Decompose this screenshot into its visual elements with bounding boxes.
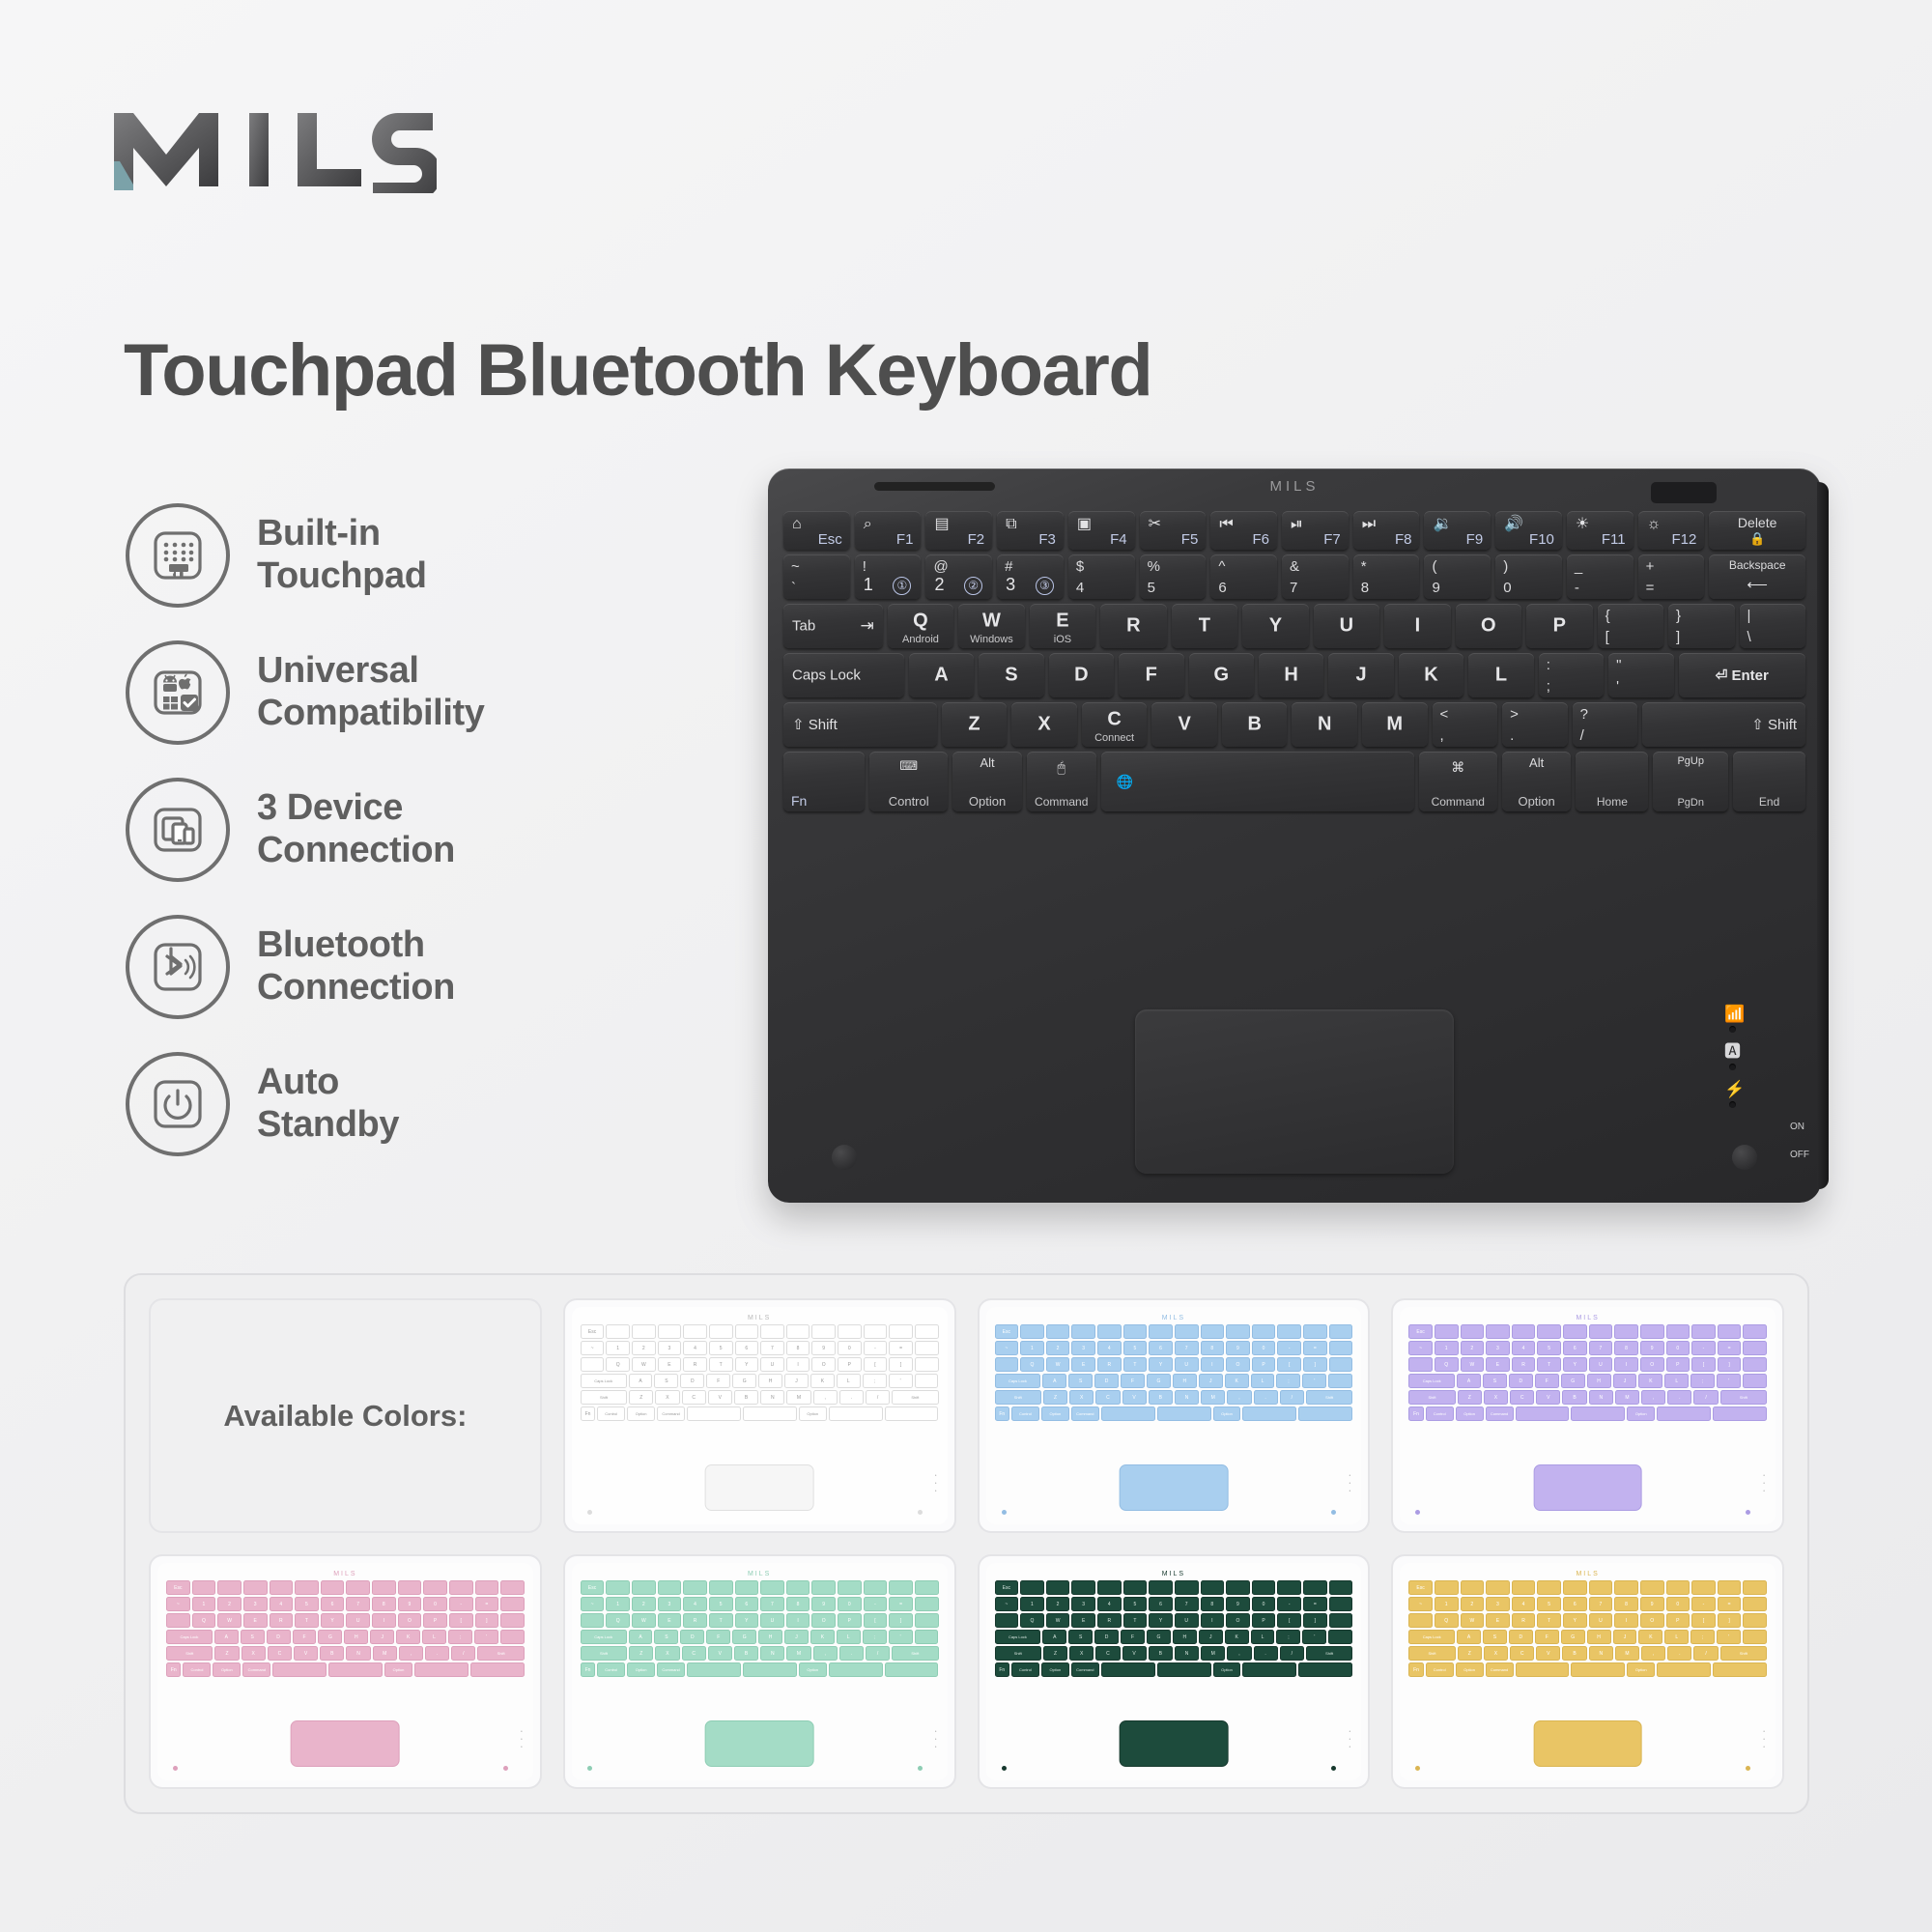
key-d[interactable]: D [1049, 653, 1114, 697]
mini-rubber-foot [503, 1766, 508, 1771]
mini-key: ; [1276, 1374, 1300, 1388]
mini-key: 4 [270, 1597, 294, 1611]
mini-key: F [1535, 1630, 1559, 1644]
key-q[interactable]: QAndroid [888, 604, 953, 648]
key-f2[interactable]: ▤ F2 [925, 511, 992, 550]
mini-key: , [1641, 1646, 1665, 1661]
mini-key [915, 1324, 939, 1339]
mini-key: [ [1691, 1357, 1716, 1372]
color-variant-mint-green[interactable]: MILSEsc~1234567890-=QWERTYUIOP[]Caps Loc… [563, 1554, 956, 1789]
brightness-down-icon: ☀ [1576, 517, 1589, 532]
mini-key [1149, 1324, 1173, 1339]
mini-key [1713, 1662, 1767, 1677]
mini-key: Y [1563, 1357, 1587, 1372]
mini-key: O [811, 1357, 836, 1372]
mini-key [735, 1324, 759, 1339]
mini-key [1743, 1597, 1767, 1611]
mini-key: Control [1426, 1662, 1454, 1677]
key-f11[interactable]: ☀ F11 [1567, 511, 1634, 550]
mini-key: D [680, 1374, 704, 1388]
mini-key [829, 1662, 883, 1677]
mini-key [606, 1324, 630, 1339]
key-f9[interactable]: 🔉 F9 [1424, 511, 1491, 550]
key-shift-left[interactable]: ⇧ Shift [783, 702, 937, 747]
key-capslock[interactable]: Caps Lock [783, 653, 904, 697]
key-6[interactable]: ^6 [1210, 554, 1277, 599]
key-n[interactable]: N [1292, 702, 1357, 747]
lock-icon: 🔒 [1709, 532, 1805, 545]
mini-key: Esc [1408, 1324, 1433, 1339]
mini-key-row: ShiftZXCVBNM,./Shift [581, 1646, 939, 1661]
key-j[interactable]: J [1328, 653, 1393, 697]
mini-key: Z [1458, 1646, 1482, 1661]
mini-key: [ [864, 1357, 888, 1372]
key-equals[interactable]: += [1638, 554, 1705, 599]
volume-up-icon: 🔊 [1504, 517, 1523, 532]
mini-key: W [1046, 1357, 1070, 1372]
mini-key [1329, 1613, 1353, 1628]
mini-key [1097, 1324, 1122, 1339]
key-8[interactable]: *8 [1353, 554, 1420, 599]
key-command-left[interactable]: 🖱 Command [1027, 752, 1096, 811]
mini-key: T [1123, 1357, 1148, 1372]
color-variant-dark-green[interactable]: MILSEsc~1234567890-=QWERTYUIOP[]Caps Loc… [978, 1554, 1371, 1789]
mini-touchpad [1120, 1720, 1229, 1767]
key-f8[interactable]: ⏭ F8 [1353, 511, 1420, 550]
mini-key: , [399, 1646, 423, 1661]
mini-key: O [1226, 1613, 1250, 1628]
mini-key: Y [735, 1613, 759, 1628]
mini-key: 5 [1123, 1597, 1148, 1611]
key-l[interactable]: L [1468, 653, 1533, 697]
keyboard-icon: ⌨ [869, 759, 948, 772]
key-1[interactable]: ! 1 ① [855, 554, 922, 599]
mini-key: P [1666, 1613, 1690, 1628]
mini-key [1298, 1406, 1352, 1421]
mini-key [1718, 1580, 1742, 1595]
mini-key: = [1303, 1597, 1327, 1611]
mini-key: I [1614, 1613, 1638, 1628]
mini-key: / [866, 1646, 890, 1661]
key-v[interactable]: V [1151, 702, 1217, 747]
key-f7[interactable]: ⏯ F7 [1282, 511, 1349, 550]
key-h[interactable]: H [1259, 653, 1323, 697]
mini-key [581, 1613, 605, 1628]
mini-key-row: QWERTYUIOP[] [1408, 1613, 1767, 1628]
mini-key: Shift [477, 1646, 524, 1661]
mini-key-row: Caps LockASDFGHJKL;' [995, 1630, 1353, 1644]
mini-key: ~ [995, 1341, 1019, 1355]
mini-key [1408, 1613, 1433, 1628]
mini-key: L [1251, 1374, 1275, 1388]
mini-key: ' [474, 1630, 498, 1644]
mini-key: T [709, 1613, 733, 1628]
mini-key: 9 [1226, 1341, 1250, 1355]
key-z[interactable]: Z [942, 702, 1008, 747]
mini-key [1101, 1662, 1155, 1677]
key-o[interactable]: O [1456, 604, 1521, 648]
mini-key: D [1094, 1630, 1119, 1644]
mini-key [1277, 1324, 1301, 1339]
color-variant-sky-blue[interactable]: MILSEsc~1234567890-=QWERTYUIOP[]Caps Loc… [978, 1298, 1371, 1533]
mini-key: Option [1213, 1406, 1241, 1421]
key-tab[interactable]: Tab ⇥ [783, 604, 883, 648]
search-icon: ⌕ [864, 517, 872, 532]
key-backspace[interactable]: Backspace ⟵ [1709, 554, 1805, 599]
key-semicolon[interactable]: :; [1539, 653, 1604, 697]
mini-key: Z [629, 1646, 653, 1661]
mini-key: V [1122, 1646, 1147, 1661]
mini-key [1614, 1324, 1638, 1339]
mini-touchpad [705, 1464, 814, 1511]
key-w[interactable]: WWindows [958, 604, 1024, 648]
mini-key: 3 [658, 1341, 682, 1355]
mini-key: T [295, 1613, 319, 1628]
mini-key: Esc [581, 1324, 605, 1339]
mini-key: H [1587, 1630, 1611, 1644]
mini-key-row: ShiftZXCVBNM,./Shift [1408, 1646, 1767, 1661]
key-quote[interactable]: "' [1608, 653, 1673, 697]
key-home-pgup[interactable]: Home [1576, 752, 1648, 811]
key-backslash[interactable]: |\ [1740, 604, 1805, 648]
mini-key: A [1457, 1630, 1481, 1644]
mini-key: U [760, 1613, 784, 1628]
key-enter[interactable]: ⏎ Enter [1679, 653, 1806, 697]
mini-key: A [629, 1630, 653, 1644]
mini-key-row: QWERTYUIOP[] [995, 1613, 1353, 1628]
mini-key [1175, 1580, 1199, 1595]
mini-key: G [1147, 1374, 1171, 1388]
key-comma[interactable]: <, [1433, 702, 1498, 747]
mini-key: B [1562, 1646, 1586, 1661]
key-esc[interactable]: ⌂ Esc [783, 511, 850, 550]
mini-key [1640, 1324, 1664, 1339]
mini-key [243, 1580, 268, 1595]
mini-key: Esc [995, 1580, 1019, 1595]
mini-key: Option [799, 1406, 827, 1421]
mini-rubber-foot [918, 1510, 923, 1515]
mini-key: 2 [632, 1341, 656, 1355]
mini-key [1589, 1324, 1613, 1339]
key-delete[interactable]: Delete 🔒 [1709, 511, 1805, 550]
mini-key-row: ~1234567890-= [166, 1597, 525, 1611]
key-u[interactable]: U [1314, 604, 1379, 648]
mini-key: X [655, 1390, 679, 1405]
mini-key: 5 [1123, 1341, 1148, 1355]
mini-indicator-labels: ••• [521, 1728, 523, 1751]
mini-key: O [811, 1613, 836, 1628]
mini-key: Shift [892, 1646, 938, 1661]
key-f4[interactable]: ▣ F4 [1068, 511, 1135, 550]
mini-key [864, 1324, 888, 1339]
available-colors-panel: Available Colors: MILSEsc~1234567890-=QW… [124, 1273, 1809, 1814]
mini-key [1691, 1580, 1716, 1595]
mini-brand-label: MILS [995, 1571, 1353, 1577]
mini-key: T [1537, 1357, 1561, 1372]
mini-key: 1 [606, 1341, 630, 1355]
mini-key [475, 1580, 499, 1595]
mini-key-row: Esc [581, 1324, 939, 1339]
power-switch-labels: ON OFF [1790, 1120, 1809, 1162]
mini-key: 0 [1252, 1341, 1276, 1355]
touchpad-icon [126, 503, 230, 608]
key-f10[interactable]: 🔊 F10 [1495, 511, 1562, 550]
mini-key: V [294, 1646, 318, 1661]
mini-key: J [370, 1630, 394, 1644]
key-period[interactable]: >. [1502, 702, 1568, 747]
mini-key [346, 1580, 370, 1595]
color-variant-pink[interactable]: MILSEsc~1234567890-=QWERTYUIOP[]Caps Loc… [149, 1554, 542, 1789]
key-minus[interactable]: _- [1567, 554, 1634, 599]
mini-key: S [1068, 1374, 1093, 1388]
mini-key [1329, 1357, 1353, 1372]
mini-key [1101, 1406, 1155, 1421]
color-variant-purple[interactable]: MILSEsc~1234567890-=QWERTYUIOP[]Caps Loc… [1391, 1298, 1784, 1533]
color-variant-yellow[interactable]: MILSEsc~1234567890-=QWERTYUIOP[]Caps Loc… [1391, 1554, 1784, 1789]
mini-key-row: FnControlOptionCommandOption [995, 1662, 1353, 1677]
feature-list: Built-in Touchpad [126, 502, 628, 1188]
mini-key [423, 1580, 447, 1595]
mini-key [1666, 1324, 1690, 1339]
key-p[interactable]: P [1526, 604, 1592, 648]
mini-key: 7 [1175, 1597, 1199, 1611]
mini-key: , [1641, 1390, 1665, 1405]
key-2[interactable]: @ 2 ② [925, 554, 992, 599]
key-f5[interactable]: ✂ F5 [1140, 511, 1207, 550]
mini-key: 3 [1071, 1597, 1095, 1611]
key-alt-option-right[interactable]: Alt Option [1502, 752, 1572, 811]
mini-key: Shift [892, 1390, 938, 1405]
mini-key: Fn [581, 1662, 595, 1677]
mini-rubber-foot [1415, 1766, 1420, 1771]
mini-key [270, 1580, 294, 1595]
mini-key: 5 [1537, 1597, 1561, 1611]
mini-rubber-foot [587, 1510, 592, 1515]
mini-key: R [1097, 1613, 1122, 1628]
mini-key: 4 [683, 1597, 707, 1611]
mini-key: 6 [1563, 1597, 1587, 1611]
mini-rubber-foot [587, 1766, 592, 1771]
key-x[interactable]: X [1011, 702, 1077, 747]
mini-key [1020, 1580, 1044, 1595]
mini-key: Y [1563, 1613, 1587, 1628]
key-g[interactable]: G [1189, 653, 1254, 697]
key-b[interactable]: B [1222, 702, 1288, 747]
mini-key-row: FnControlOptionCommandOption [1408, 1406, 1767, 1421]
key-y[interactable]: Y [1242, 604, 1308, 648]
mini-key: . [839, 1390, 864, 1405]
number-row: ~ ` ! 1 ① @ 2 ② # 3 [783, 554, 1805, 599]
key-f3[interactable]: ⧉ F3 [997, 511, 1064, 550]
mini-key [1743, 1374, 1767, 1388]
key-f6[interactable]: ⏮ F6 [1210, 511, 1277, 550]
key-command-right[interactable]: ⌘ Command [1419, 752, 1497, 811]
key-s[interactable]: S [979, 653, 1043, 697]
mini-key [760, 1580, 784, 1595]
mini-key: N [1589, 1646, 1613, 1661]
mini-key-row: QWERTYUIOP[] [1408, 1357, 1767, 1372]
mini-key: J [784, 1374, 809, 1388]
mini-key: F [1121, 1630, 1145, 1644]
mini-rubber-foot [173, 1766, 178, 1771]
touchpad-surface[interactable] [1135, 1009, 1454, 1174]
mini-key [1537, 1580, 1561, 1595]
key-bracket-right[interactable]: }] [1668, 604, 1734, 648]
mini-key [1329, 1580, 1353, 1595]
mini-key: V [1122, 1390, 1147, 1405]
mini-key: F [706, 1630, 730, 1644]
touchpad-area: 📶 🅰 ⚡ ON OFF [783, 1006, 1805, 1189]
mini-key-row: Esc [1408, 1324, 1767, 1339]
mini-key: T [1537, 1613, 1561, 1628]
volume-down-icon: 🔉 [1433, 517, 1452, 532]
mini-key-row: FnControlOptionCommandOption [581, 1662, 939, 1677]
key-e[interactable]: EiOS [1030, 604, 1095, 648]
key-pgup-pgdn[interactable]: PgUp PgDn [1653, 752, 1728, 811]
mini-key: B [1149, 1390, 1173, 1405]
tab-arrows-icon: ⇥ [860, 616, 873, 636]
key-k[interactable]: K [1399, 653, 1463, 697]
mini-key [915, 1374, 939, 1388]
key-control[interactable]: ⌨ Control [869, 752, 948, 811]
mini-key: 6 [1563, 1341, 1587, 1355]
mini-key: Command [1071, 1406, 1099, 1421]
mini-key [786, 1580, 810, 1595]
mini-key: Control [183, 1662, 211, 1677]
mini-key [321, 1580, 345, 1595]
mini-key: J [1613, 1630, 1637, 1644]
key-4[interactable]: $4 [1068, 554, 1135, 599]
color-variant-white[interactable]: MILSEsc~1234567890-=QWERTYUIOP[]Caps Loc… [563, 1298, 956, 1533]
mini-key: X [655, 1646, 679, 1661]
mini-key: Fn [1408, 1406, 1423, 1421]
mini-key: Z [629, 1390, 653, 1405]
key-bracket-left[interactable]: {[ [1598, 604, 1663, 648]
key-shift-right[interactable]: ⇧ Shift [1642, 702, 1805, 747]
mini-key: ' [889, 1630, 913, 1644]
key-space[interactable]: 🌐 [1101, 752, 1414, 811]
mini-key [687, 1406, 741, 1421]
key-f[interactable]: F [1119, 653, 1183, 697]
mini-key [1743, 1324, 1767, 1339]
mini-key [166, 1613, 190, 1628]
mini-key-row: QWERTYUIOP[] [995, 1357, 1353, 1372]
mini-key: 1 [192, 1597, 216, 1611]
mini-key: X [1484, 1390, 1508, 1405]
mini-key: Caps Lock [995, 1630, 1041, 1644]
mini-key: 8 [1201, 1597, 1225, 1611]
key-3[interactable]: # 3 ③ [997, 554, 1064, 599]
mini-key: M [373, 1646, 397, 1661]
mini-key: ] [889, 1357, 913, 1372]
key-0[interactable]: )0 [1495, 554, 1562, 599]
key-tilde[interactable]: ~ ` [783, 554, 850, 599]
key-f1[interactable]: ⌕ F1 [855, 511, 922, 550]
mini-key [1046, 1580, 1070, 1595]
mini-key: [ [1277, 1357, 1301, 1372]
mini-key [192, 1580, 216, 1595]
mini-key-row: Esc [166, 1580, 525, 1595]
key-end[interactable]: End [1733, 752, 1805, 811]
key-m[interactable]: M [1362, 702, 1428, 747]
mini-key: Command [1486, 1406, 1514, 1421]
mini-key: Caps Lock [581, 1630, 627, 1644]
mini-key [1408, 1357, 1433, 1372]
mini-key: K [1638, 1374, 1662, 1388]
mini-key: R [270, 1613, 294, 1628]
mini-touchpad [1533, 1464, 1642, 1511]
mini-key [1486, 1580, 1510, 1595]
mini-key [470, 1662, 525, 1677]
mini-key: U [346, 1613, 370, 1628]
mini-key-row: Esc [995, 1580, 1353, 1595]
feature-label: Bluetooth Connection [257, 924, 455, 1009]
mini-key-row: ~1234567890-= [1408, 1341, 1767, 1355]
mini-key: Fn [995, 1406, 1009, 1421]
mini-key: 7 [346, 1597, 370, 1611]
key-t[interactable]: T [1172, 604, 1237, 648]
mini-key: V [708, 1646, 732, 1661]
mini-key-row: QWERTYUIOP[] [581, 1357, 939, 1372]
mini-key: U [1175, 1613, 1199, 1628]
mini-key: 6 [321, 1597, 345, 1611]
key-c[interactable]: C Connect [1082, 702, 1148, 747]
mini-key [1328, 1630, 1352, 1644]
feature-label: Built-in Touchpad [257, 513, 427, 597]
key-9[interactable]: (9 [1424, 554, 1491, 599]
mini-key: B [320, 1646, 344, 1661]
mini-key-row: ~1234567890-= [995, 1597, 1353, 1611]
mini-key: E [1071, 1613, 1095, 1628]
key-7[interactable]: &7 [1282, 554, 1349, 599]
mini-key: E [1486, 1357, 1510, 1372]
mini-key [1123, 1580, 1148, 1595]
key-a[interactable]: A [909, 653, 974, 697]
key-slash[interactable]: ?/ [1573, 702, 1638, 747]
bluetooth-led: 📶 [1724, 1006, 1780, 1033]
mini-key: Control [1426, 1406, 1454, 1421]
mini-key [1743, 1613, 1767, 1628]
key-r[interactable]: R [1100, 604, 1166, 648]
mini-key: . [1667, 1646, 1691, 1661]
mini-key: [ [1691, 1613, 1716, 1628]
mini-key [683, 1324, 707, 1339]
mini-key [1461, 1324, 1485, 1339]
mini-key: ; [1690, 1374, 1715, 1388]
mini-key: 7 [1589, 1341, 1613, 1355]
mini-key [1071, 1580, 1095, 1595]
mini-key: B [1149, 1646, 1173, 1661]
mini-key [1713, 1406, 1767, 1421]
mini-key-row: ShiftZXCVBNM,./Shift [581, 1390, 939, 1405]
mini-key: C [1095, 1390, 1120, 1405]
mini-key: O [398, 1613, 422, 1628]
mini-key [1242, 1406, 1296, 1421]
mini-key: A [629, 1374, 653, 1388]
mini-key: ' [1302, 1630, 1326, 1644]
mini-key: [ [864, 1613, 888, 1628]
key-5[interactable]: %5 [1140, 554, 1207, 599]
mini-key: K [1225, 1630, 1249, 1644]
key-fn[interactable]: Fn [783, 752, 865, 811]
mini-key [1589, 1580, 1613, 1595]
key-alt-option-left[interactable]: Alt Option [952, 752, 1022, 811]
key-i[interactable]: I [1384, 604, 1450, 648]
mini-key: / [1693, 1390, 1718, 1405]
available-colors-label-card: Available Colors: [149, 1298, 542, 1533]
key-f12[interactable]: ☼ F12 [1638, 511, 1705, 550]
mini-key: 2 [1046, 1597, 1070, 1611]
